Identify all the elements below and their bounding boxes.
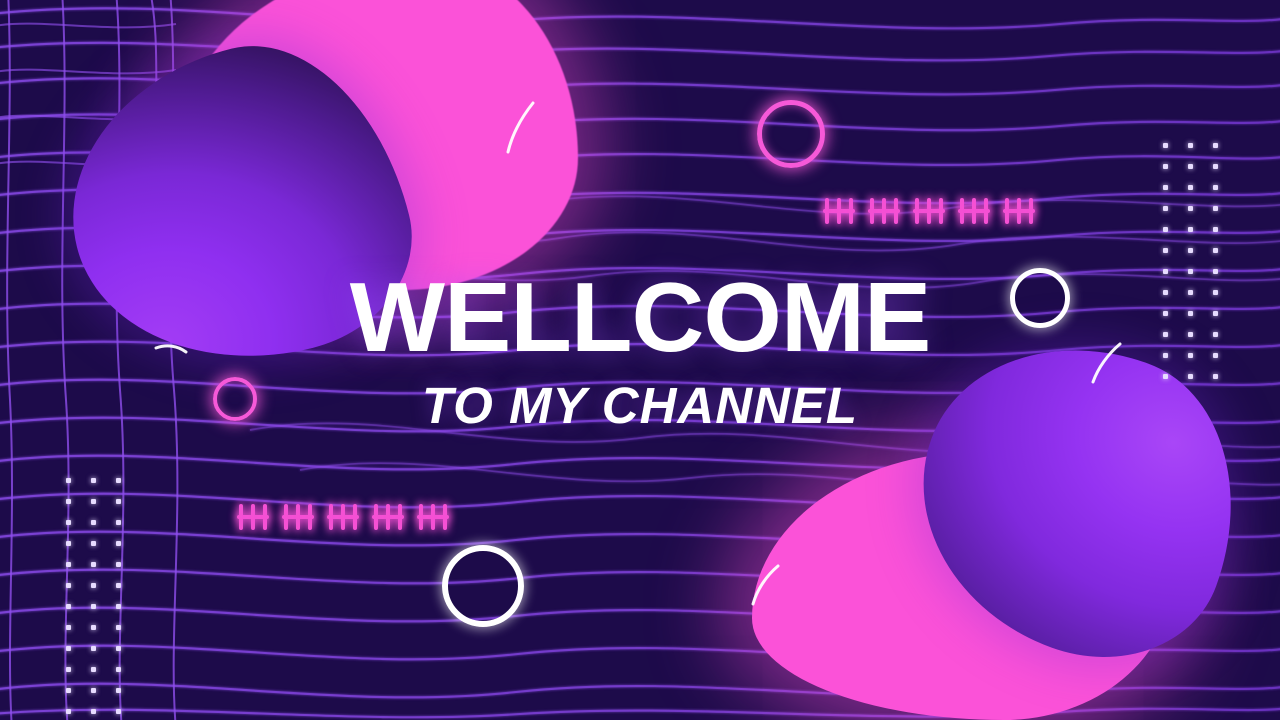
swoosh-arc-bottom-mid [753, 566, 778, 604]
swoosh-arc-top-right [1093, 344, 1120, 382]
swoosh-arc-top-left [508, 103, 533, 152]
white-swoosh-arcs [0, 0, 1280, 720]
swoosh-arc-mid-left [156, 346, 186, 352]
banner-canvas: WELLCOME TO MY CHANNEL [0, 0, 1280, 720]
